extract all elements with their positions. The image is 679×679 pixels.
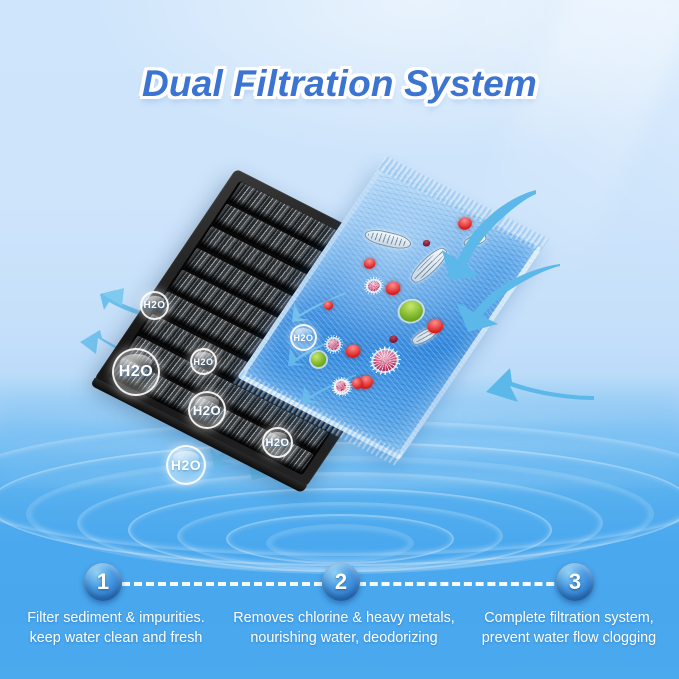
h2o-bubble: H2O <box>140 291 169 320</box>
h2o-bubble: H2O <box>190 348 217 375</box>
step-caption-3: Complete filtration system, prevent wate… <box>460 608 678 648</box>
germ-icon <box>362 257 378 271</box>
h2o-label: H2O <box>143 300 165 311</box>
h2o-bubble: H2O <box>188 391 226 429</box>
bacteria-icon <box>407 244 451 286</box>
filter-illustration: H2O H2O H2O H2O H2O H2O H2O <box>0 0 679 560</box>
virus-icon <box>369 347 401 375</box>
virus-icon <box>366 279 382 293</box>
infographic-poster: Dual Filtration System <box>0 0 679 679</box>
h2o-label: H2O <box>119 363 153 381</box>
virus-icon <box>336 381 346 391</box>
step-number-2: 2 <box>322 563 360 601</box>
algae-icon <box>311 352 326 367</box>
h2o-label: H2O <box>293 333 313 343</box>
germ-icon <box>343 342 363 360</box>
germ-icon <box>421 239 431 248</box>
h2o-label: H2O <box>171 457 201 473</box>
germ-icon <box>383 279 403 297</box>
h2o-bubble: H2O <box>262 427 293 458</box>
virus-icon <box>328 339 339 350</box>
algae-icon <box>395 297 427 325</box>
h2o-bubble: H2O <box>112 348 160 396</box>
h2o-label: H2O <box>193 403 221 418</box>
step-connector-line <box>358 582 566 586</box>
step-number-1: 1 <box>84 563 122 601</box>
germ-icon <box>324 301 333 310</box>
h2o-bubble: H2O <box>290 324 317 351</box>
steps-strip: 1 2 3 Filter sediment & impurities. keep… <box>0 556 679 679</box>
water-in-arrow-icon <box>466 352 596 408</box>
bacteria-icon <box>362 227 413 252</box>
h2o-label: H2O <box>193 357 213 367</box>
bacteria-icon <box>462 232 488 249</box>
h2o-label: H2O <box>265 437 289 449</box>
step-connector-line <box>122 582 334 586</box>
germ-icon <box>388 334 400 344</box>
step-number-3: 3 <box>556 563 594 601</box>
germ-icon <box>352 378 363 389</box>
step-caption-2: Removes chlorine & heavy metals, nourish… <box>228 608 460 648</box>
h2o-bubble: H2O <box>166 445 206 485</box>
step-caption-1: Filter sediment & impurities. keep water… <box>4 608 228 648</box>
